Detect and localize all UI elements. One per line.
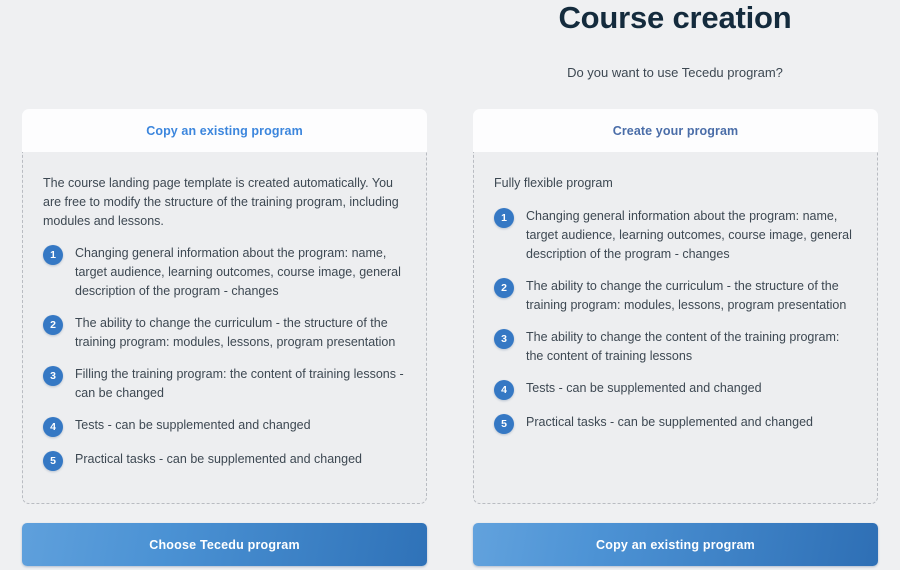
list-item-text: The ability to change the content of the… (526, 328, 857, 366)
create-your-program-title: Create your program (613, 124, 739, 138)
list-item-text: Changing general information about the p… (526, 207, 857, 264)
list-item: 1 Changing general information about the… (43, 244, 406, 301)
list-item-text: The ability to change the curriculum - t… (526, 277, 857, 315)
number-badge-icon: 2 (43, 315, 63, 335)
number-badge-icon: 4 (494, 380, 514, 400)
program-option-create-your-own: Create your program Fully flexible progr… (473, 109, 878, 566)
create-your-program-cta-wrap: Copy an existing program (473, 523, 878, 566)
list-item: 2 The ability to change the curriculum -… (43, 314, 406, 352)
list-item-text: Practical tasks - can be supplemented an… (75, 450, 406, 469)
number-badge-icon: 1 (494, 208, 514, 228)
list-item: 3 Filling the training program: the cont… (43, 365, 406, 403)
page-header: Course creation Do you want to use Teced… (450, 0, 900, 82)
copy-existing-program-cta-wrap: Choose Tecedu program (22, 523, 427, 566)
copy-an-existing-program-button[interactable]: Copy an existing program (473, 523, 878, 566)
list-item: 1 Changing general information about the… (494, 207, 857, 264)
list-item-text: Changing general information about the p… (75, 244, 406, 301)
list-item: 4 Tests - can be supplemented and change… (494, 379, 857, 400)
number-badge-icon: 5 (494, 414, 514, 434)
list-item-text: Tests - can be supplemented and changed (526, 379, 857, 398)
create-your-program-intro: Fully flexible program (494, 174, 857, 193)
number-badge-icon: 2 (494, 278, 514, 298)
list-item-text: Practical tasks - can be supplemented an… (526, 413, 857, 432)
number-badge-icon: 4 (43, 417, 63, 437)
copy-existing-program-card: Copy an existing program The course land… (22, 109, 427, 504)
number-badge-icon: 1 (43, 245, 63, 265)
list-item: 5 Practical tasks - can be supplemented … (494, 413, 857, 434)
page-title: Course creation (450, 0, 900, 36)
number-badge-icon: 5 (43, 451, 63, 471)
number-badge-icon: 3 (43, 366, 63, 386)
create-your-program-card-body: Fully flexible program 1 Changing genera… (473, 152, 878, 504)
copy-existing-program-intro: The course landing page template is crea… (43, 174, 406, 231)
list-item-text: Tests - can be supplemented and changed (75, 416, 406, 435)
copy-existing-program-card-body: The course landing page template is crea… (22, 152, 427, 504)
page-subtitle: Do you want to use Tecedu program? (450, 64, 900, 82)
list-item: 5 Practical tasks - can be supplemented … (43, 450, 406, 471)
list-item: 3 The ability to change the content of t… (494, 328, 857, 366)
list-item: 4 Tests - can be supplemented and change… (43, 416, 406, 437)
program-option-copy-existing: Copy an existing program The course land… (22, 109, 427, 566)
create-your-program-card: Create your program Fully flexible progr… (473, 109, 878, 504)
create-your-program-feature-list: 1 Changing general information about the… (494, 207, 857, 434)
copy-existing-program-title: Copy an existing program (146, 124, 303, 138)
copy-existing-program-card-header: Copy an existing program (22, 109, 427, 152)
create-your-program-card-header: Create your program (473, 109, 878, 152)
list-item-text: The ability to change the curriculum - t… (75, 314, 406, 352)
course-creation-page: Course creation Do you want to use Teced… (0, 0, 900, 570)
copy-existing-program-feature-list: 1 Changing general information about the… (43, 244, 406, 471)
choose-tecedu-program-button[interactable]: Choose Tecedu program (22, 523, 427, 566)
list-item: 2 The ability to change the curriculum -… (494, 277, 857, 315)
number-badge-icon: 3 (494, 329, 514, 349)
program-options-columns: Copy an existing program The course land… (0, 109, 900, 566)
list-item-text: Filling the training program: the conten… (75, 365, 406, 403)
